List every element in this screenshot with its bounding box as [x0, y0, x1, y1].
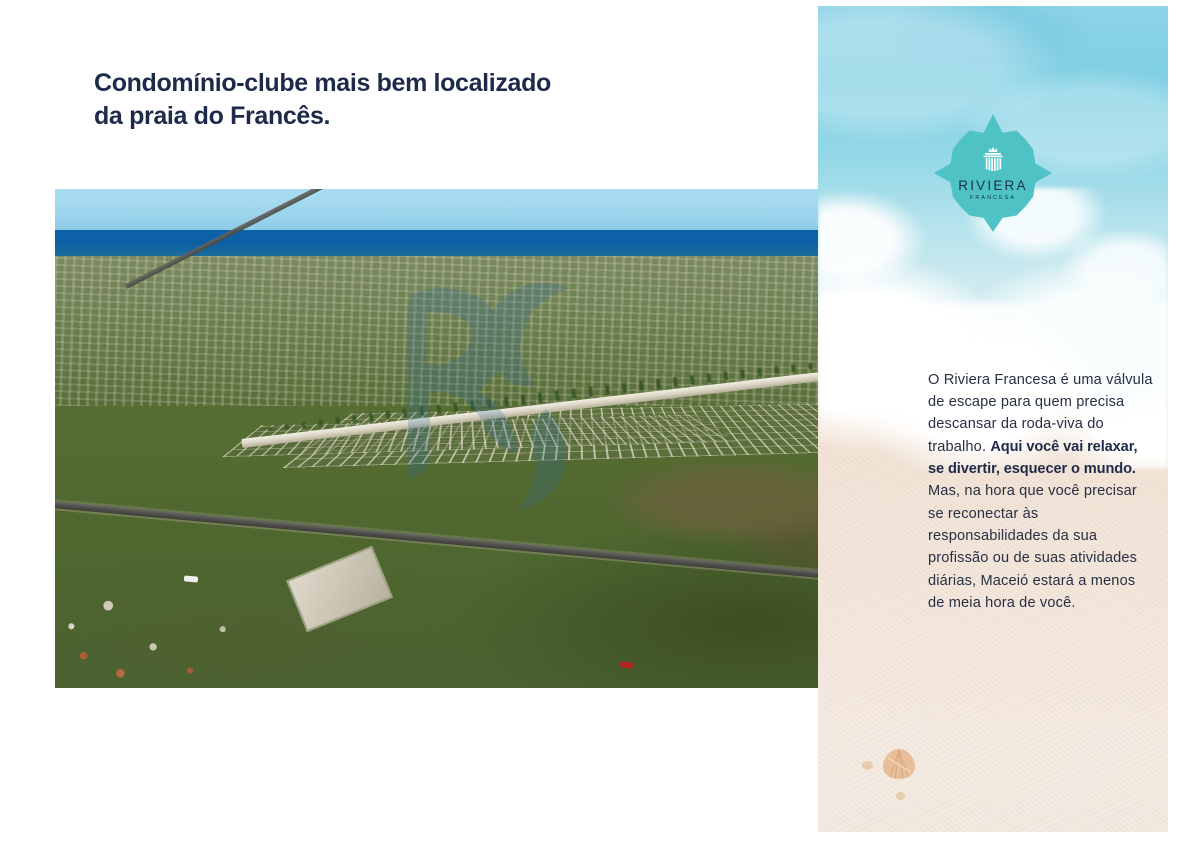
photo-red-car: [620, 662, 633, 669]
brochure-page: Condomínio-clube mais bem localizado da …: [0, 0, 1200, 848]
photo-neighborhood: [55, 541, 464, 688]
riviera-francesa-logo: RIVIERA FRANCESA: [934, 114, 1052, 232]
logo-wordmark: RIVIERA: [958, 179, 1027, 193]
photo-white-car: [184, 576, 198, 583]
brand-panel: RIVIERA FRANCESA O Riviera Francesa é um…: [818, 6, 1168, 832]
sand-pebble-left: [862, 761, 873, 770]
logo-sub-wordmark: FRANCESA: [970, 196, 1016, 201]
panel-body-copy: O Riviera Francesa é uma válvula de esca…: [928, 369, 1156, 615]
seashell-icon: [882, 748, 916, 780]
photo-sky: [55, 189, 945, 230]
aerial-photo: [55, 189, 945, 688]
sand-pebble-lower: [896, 792, 905, 800]
crowned-column-icon: [976, 145, 1010, 175]
body-copy-tail: Mas, na hora que você precisar se recone…: [928, 483, 1137, 611]
page-title: Condomínio-clube mais bem localizado da …: [94, 67, 714, 134]
